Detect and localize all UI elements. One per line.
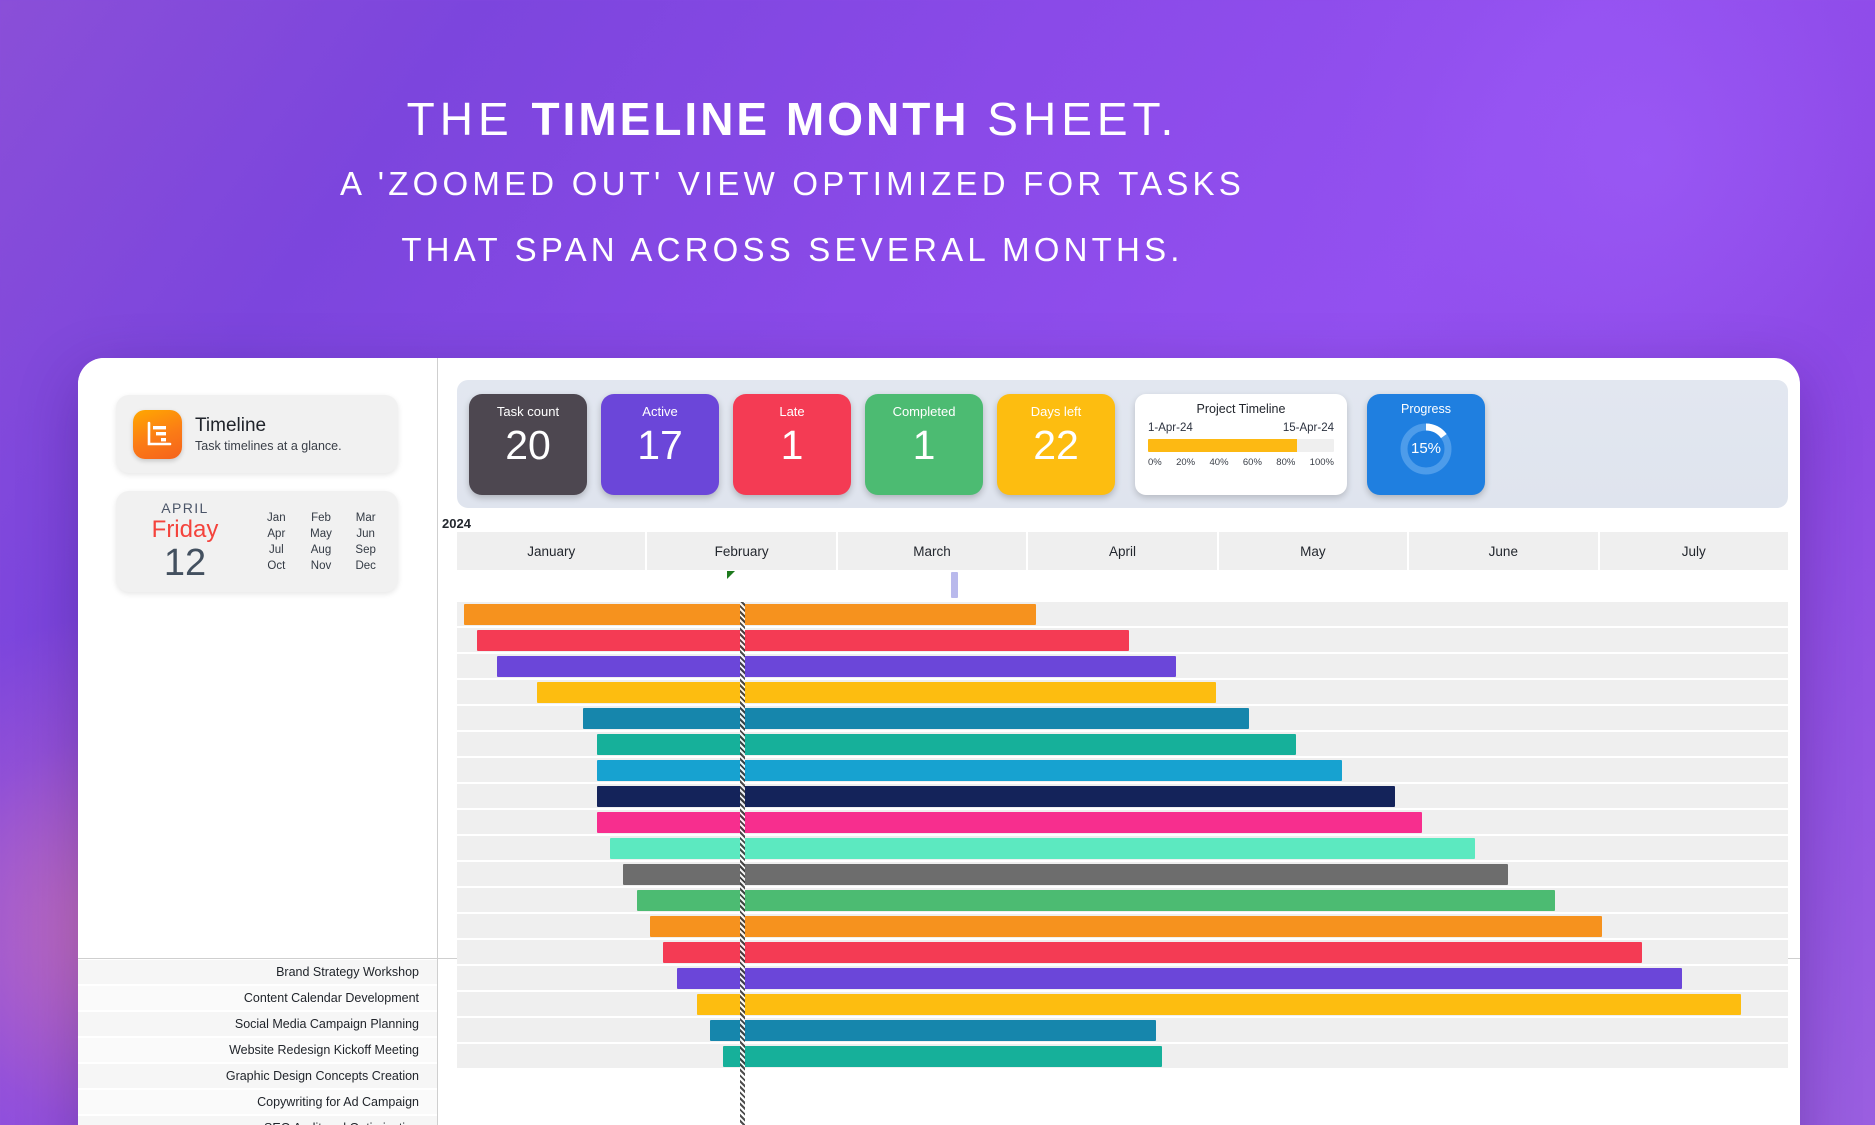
gantt-bar[interactable] — [697, 994, 1742, 1015]
date-month: APRIL — [116, 501, 254, 516]
month-option-jun[interactable]: Jun — [343, 528, 388, 540]
scale-tick: 40% — [1210, 457, 1229, 468]
gantt-row[interactable] — [457, 758, 1788, 784]
kpi-card-days-left[interactable]: Days left 22 — [997, 394, 1115, 495]
gantt-row[interactable] — [457, 784, 1788, 810]
task-label[interactable]: SEO Audit and Optimization — [78, 1116, 438, 1125]
month-option-apr[interactable]: Apr — [254, 528, 299, 540]
gantt-row[interactable] — [457, 836, 1788, 862]
progress-value: 15% — [1396, 419, 1456, 479]
kpi-value: 20 — [505, 425, 551, 466]
project-end-date: 15-Apr-24 — [1283, 422, 1334, 434]
app-subtitle: Task timelines at a glance. — [195, 439, 342, 453]
kpi-label: Task count — [497, 404, 559, 419]
kpi-label: Completed — [893, 404, 956, 419]
month-option-dec[interactable]: Dec — [343, 560, 388, 572]
progress-donut-icon: 15% — [1396, 419, 1456, 479]
gantt-month-header: JanuaryFebruaryMarchAprilMayJuneJuly — [457, 532, 1788, 570]
gantt-row[interactable] — [457, 810, 1788, 836]
progress-label: Progress — [1401, 402, 1451, 416]
gantt-row[interactable] — [457, 914, 1788, 940]
task-label-column: Brand Strategy WorkshopContent Calendar … — [78, 960, 438, 1125]
task-label[interactable]: Brand Strategy Workshop — [78, 960, 438, 986]
app-window: Timeline Task timelines at a glance. APR… — [78, 358, 1800, 1125]
gantt-bar[interactable] — [583, 708, 1249, 729]
scale-tick: 80% — [1276, 457, 1295, 468]
gantt-month-may: May — [1219, 532, 1409, 570]
project-timeline-card: Project Timeline 1-Apr-24 15-Apr-24 0% 2… — [1135, 394, 1347, 495]
kpi-label: Late — [779, 404, 804, 419]
gantt-month-january: January — [457, 532, 647, 570]
gantt-row[interactable] — [457, 862, 1788, 888]
task-label[interactable]: Copywriting for Ad Campaign — [78, 1090, 438, 1116]
gantt-month-february: February — [647, 532, 837, 570]
task-label[interactable]: Graphic Design Concepts Creation — [78, 1064, 438, 1090]
headline-line-2: A 'ZOOMED OUT' VIEW OPTIMIZED FOR TASKS — [0, 161, 1585, 208]
gantt-bar[interactable] — [597, 734, 1296, 755]
date-card: APRIL Friday 12 Jan Feb Mar Apr May Jun … — [116, 491, 398, 592]
month-option-jan[interactable]: Jan — [254, 512, 299, 524]
task-label[interactable]: Content Calendar Development — [78, 986, 438, 1012]
gantt-bar[interactable] — [650, 916, 1602, 937]
progress-card[interactable]: Progress 15% — [1367, 394, 1485, 495]
scale-tick: 100% — [1310, 457, 1334, 468]
milestone-marker-green-icon — [727, 571, 735, 579]
month-option-mar[interactable]: Mar — [343, 512, 388, 524]
month-picker-grid[interactable]: Jan Feb Mar Apr May Jun Jul Aug Sep Oct … — [254, 512, 398, 572]
gantt-bar[interactable] — [464, 604, 1036, 625]
project-timeline-title: Project Timeline — [1148, 402, 1334, 416]
app-title: Timeline — [195, 415, 342, 437]
scale-tick: 0% — [1148, 457, 1162, 468]
today-line-icon — [740, 602, 745, 1125]
gantt-bar[interactable] — [663, 942, 1641, 963]
gantt-row[interactable] — [457, 706, 1788, 732]
gantt-bar[interactable] — [477, 630, 1129, 651]
kpi-strip: Task count 20 Active 17 Late 1 Completed… — [457, 380, 1788, 508]
gantt-month-june: June — [1409, 532, 1599, 570]
kpi-value: 17 — [637, 425, 683, 466]
date-weekday: Friday — [116, 517, 254, 544]
gantt-bar[interactable] — [637, 890, 1555, 911]
month-option-sep[interactable]: Sep — [343, 544, 388, 556]
gantt-rows — [457, 602, 1788, 1125]
promo-headline: THE TIMELINE MONTH SHEET. A 'ZOOMED OUT'… — [0, 96, 1585, 274]
kpi-card-task-count[interactable]: Task count 20 — [469, 394, 587, 495]
kpi-card-active[interactable]: Active 17 — [601, 394, 719, 495]
kpi-value: 1 — [781, 425, 804, 466]
gantt-row[interactable] — [457, 888, 1788, 914]
kpi-label: Days left — [1031, 404, 1082, 419]
kpi-card-late[interactable]: Late 1 — [733, 394, 851, 495]
gantt-row[interactable] — [457, 992, 1788, 1018]
scale-tick: 60% — [1243, 457, 1262, 468]
gantt-row[interactable] — [457, 966, 1788, 992]
sidebar: Timeline Task timelines at a glance. APR… — [78, 358, 438, 1125]
current-date: APRIL Friday 12 — [116, 501, 254, 581]
date-day: 12 — [116, 544, 254, 582]
gantt-row[interactable] — [457, 940, 1788, 966]
month-option-jul[interactable]: Jul — [254, 544, 299, 556]
month-option-may[interactable]: May — [299, 528, 344, 540]
gantt-bar[interactable] — [597, 760, 1342, 781]
task-label[interactable]: Website Redesign Kickoff Meeting — [78, 1038, 438, 1064]
main-pane: Task count 20 Active 17 Late 1 Completed… — [438, 358, 1800, 1125]
gantt-bar[interactable] — [710, 1020, 1156, 1041]
current-period-marker-icon — [951, 572, 958, 598]
gantt-bar[interactable] — [623, 864, 1508, 885]
gantt-bar[interactable] — [597, 786, 1396, 807]
app-title-card: Timeline Task timelines at a glance. — [116, 395, 398, 473]
gantt-row[interactable] — [457, 1044, 1788, 1070]
headline-line-3: THAT SPAN ACROSS SEVERAL MONTHS. — [0, 227, 1585, 274]
gantt-bar[interactable] — [597, 812, 1422, 833]
gantt-row[interactable] — [457, 602, 1788, 628]
gantt-bar[interactable] — [677, 968, 1682, 989]
project-progress-fill — [1148, 439, 1297, 452]
gantt-chart — [457, 602, 1788, 1125]
project-progress-scale: 0% 20% 40% 60% 80% 100% — [1148, 457, 1334, 468]
gantt-row[interactable] — [457, 654, 1788, 680]
month-option-nov[interactable]: Nov — [299, 560, 344, 572]
gantt-year-label: 2024 — [442, 516, 471, 531]
scale-tick: 20% — [1176, 457, 1195, 468]
month-option-aug[interactable]: Aug — [299, 544, 344, 556]
timeline-chart-icon — [133, 410, 182, 459]
kpi-label: Active — [642, 404, 677, 419]
gantt-month-april: April — [1028, 532, 1218, 570]
kpi-value: 22 — [1033, 425, 1079, 466]
project-progress-track — [1148, 439, 1334, 452]
gantt-bar[interactable] — [497, 656, 1176, 677]
gantt-row[interactable] — [457, 628, 1788, 654]
gantt-row[interactable] — [457, 732, 1788, 758]
month-option-feb[interactable]: Feb — [299, 512, 344, 524]
month-option-oct[interactable]: Oct — [254, 560, 299, 572]
project-start-date: 1-Apr-24 — [1148, 422, 1193, 434]
gantt-month-july: July — [1600, 532, 1788, 570]
gantt-row[interactable] — [457, 1018, 1788, 1044]
task-label[interactable]: Social Media Campaign Planning — [78, 1012, 438, 1038]
gantt-bar[interactable] — [537, 682, 1216, 703]
kpi-value: 1 — [913, 425, 936, 466]
kpi-card-completed[interactable]: Completed 1 — [865, 394, 983, 495]
gantt-row[interactable] — [457, 680, 1788, 706]
gantt-bar[interactable] — [723, 1046, 1162, 1067]
headline-line-1: THE TIMELINE MONTH SHEET. — [0, 96, 1585, 142]
gantt-month-march: March — [838, 532, 1028, 570]
